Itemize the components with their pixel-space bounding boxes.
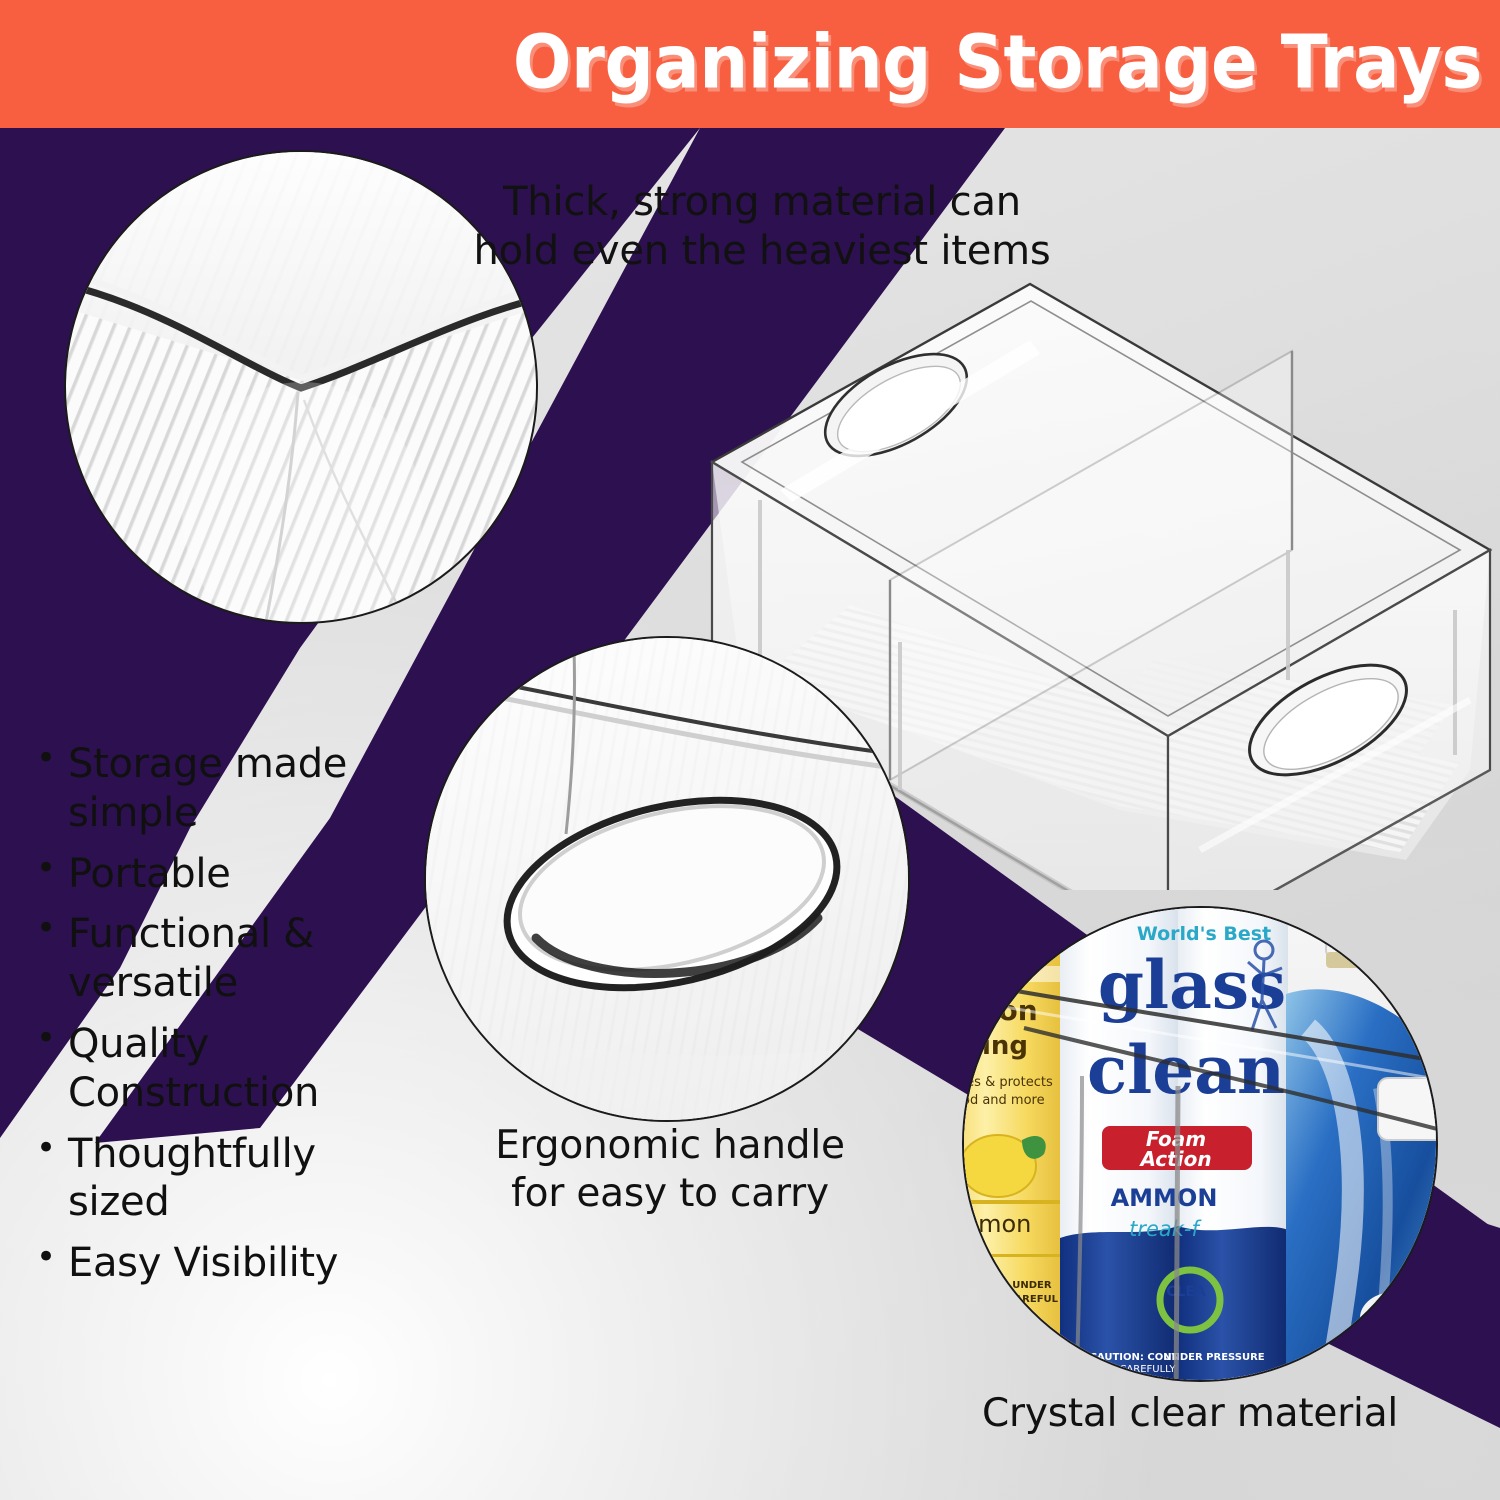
svg-text:READ CAREFULLY: READ CAREFULLY: [1088, 1364, 1176, 1375]
callout-crystal-clear: Crystal clear material: [955, 1390, 1425, 1438]
header-banner: Organizing Storage Trays: [0, 0, 1500, 128]
svg-text:lemon: lemon: [964, 1210, 1031, 1238]
svg-text:World's Best: World's Best: [1137, 923, 1271, 945]
list-item: Storage made simple: [22, 740, 382, 838]
svg-text:clean: clean: [1087, 1031, 1285, 1109]
glass-cleaner-can: World's Best glass clean Foam Action AMM…: [1060, 908, 1288, 1380]
svg-text:wood and more: wood and more: [964, 1093, 1045, 1108]
svg-text:WASH: WASH: [1376, 1305, 1417, 1319]
list-item: Quality Construction: [22, 1020, 382, 1118]
list-item: Functional & versatile: [22, 910, 382, 1008]
svg-text:9.7 OZ. (274: 9.7 OZ. (274: [964, 1319, 1043, 1334]
list-item: Portable: [22, 850, 382, 899]
svg-text:CONTENTS UNDER: CONTENTS UNDER: [964, 1280, 1052, 1291]
svg-text:CLEA: CLEA: [1166, 1284, 1206, 1300]
list-item: Thoughtfully sized: [22, 1130, 382, 1228]
svg-text:eautify: eautify: [964, 937, 1040, 961]
svg-text:ncing: ncing: [964, 1031, 1028, 1061]
callout-thick-material: Thick, strong material can hold even the…: [462, 178, 1062, 276]
list-item: Easy Visibility: [22, 1239, 382, 1288]
ergonomic-handle-detail-circle: [424, 636, 910, 1122]
svg-text:shines & protects: shines & protects: [964, 1075, 1053, 1090]
feature-list: Storage made simple Portable Functional …: [22, 740, 382, 1300]
infographic-canvas: Organizing Storage Trays: [0, 0, 1500, 1500]
svg-text:BACK PANEL CAREFUL: BACK PANEL CAREFUL: [964, 1294, 1059, 1305]
crystal-clear-detail-circle: eautify emon ncing shines & protects woo…: [962, 906, 1438, 1382]
svg-text:treak-f: treak-f: [1129, 1217, 1202, 1241]
svg-text:AMMON: AMMON: [1111, 1184, 1218, 1212]
page-title: Organizing Storage Trays: [513, 26, 1482, 100]
callout-ergonomic-handle: Ergonomic handle for easy to carry: [480, 1122, 860, 1217]
